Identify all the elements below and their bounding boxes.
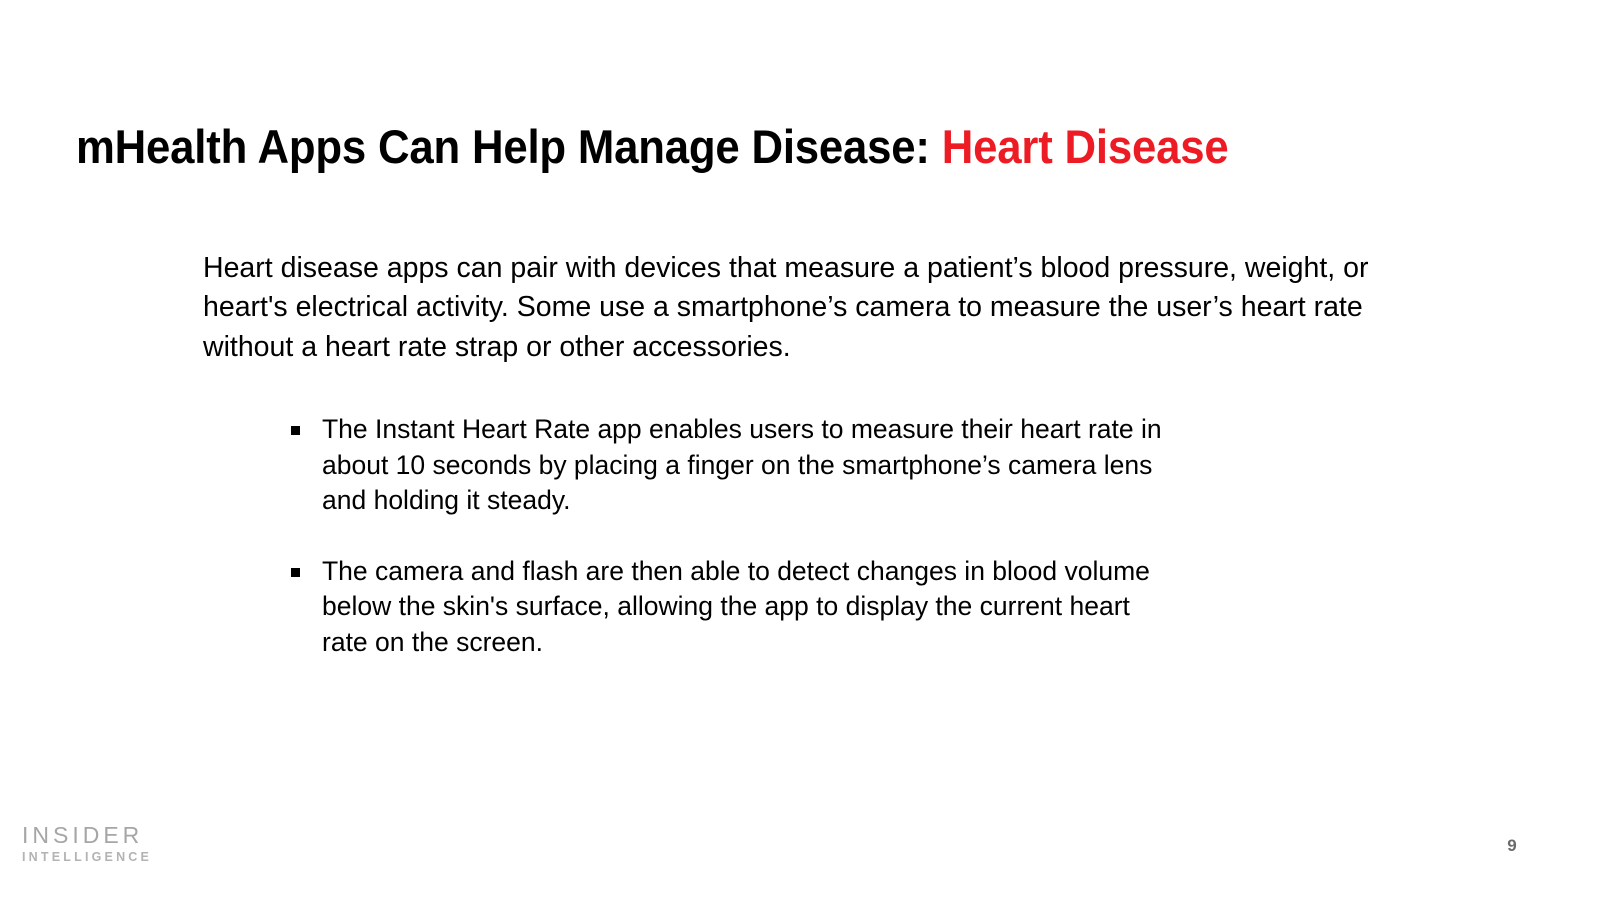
square-bullet-icon [291, 426, 300, 435]
lead-paragraph: Heart disease apps can pair with devices… [203, 249, 1378, 368]
list-item: The camera and flash are then able to de… [291, 554, 1191, 661]
list-item: The Instant Heart Rate app enables users… [291, 412, 1191, 519]
bullet-list: The Instant Heart Rate app enables users… [291, 412, 1191, 660]
square-bullet-icon [291, 568, 300, 577]
page-title-accent: Heart Disease [942, 120, 1229, 173]
list-item-text: The Instant Heart Rate app enables users… [322, 412, 1170, 519]
slide-canvas: mHealth Apps Can Help Manage Disease: He… [0, 0, 1600, 900]
page-title: mHealth Apps Can Help Manage Disease: He… [76, 119, 1434, 175]
list-item-text: The camera and flash are then able to de… [322, 554, 1154, 661]
logo-primary-text: INSIDER [22, 823, 152, 848]
insider-intelligence-logo: INSIDER INTELLIGENCE [22, 823, 152, 865]
logo-secondary-text: INTELLIGENCE [22, 850, 152, 865]
page-number: 9 [1500, 836, 1524, 856]
page-title-main: mHealth Apps Can Help Manage Disease: [76, 120, 942, 173]
